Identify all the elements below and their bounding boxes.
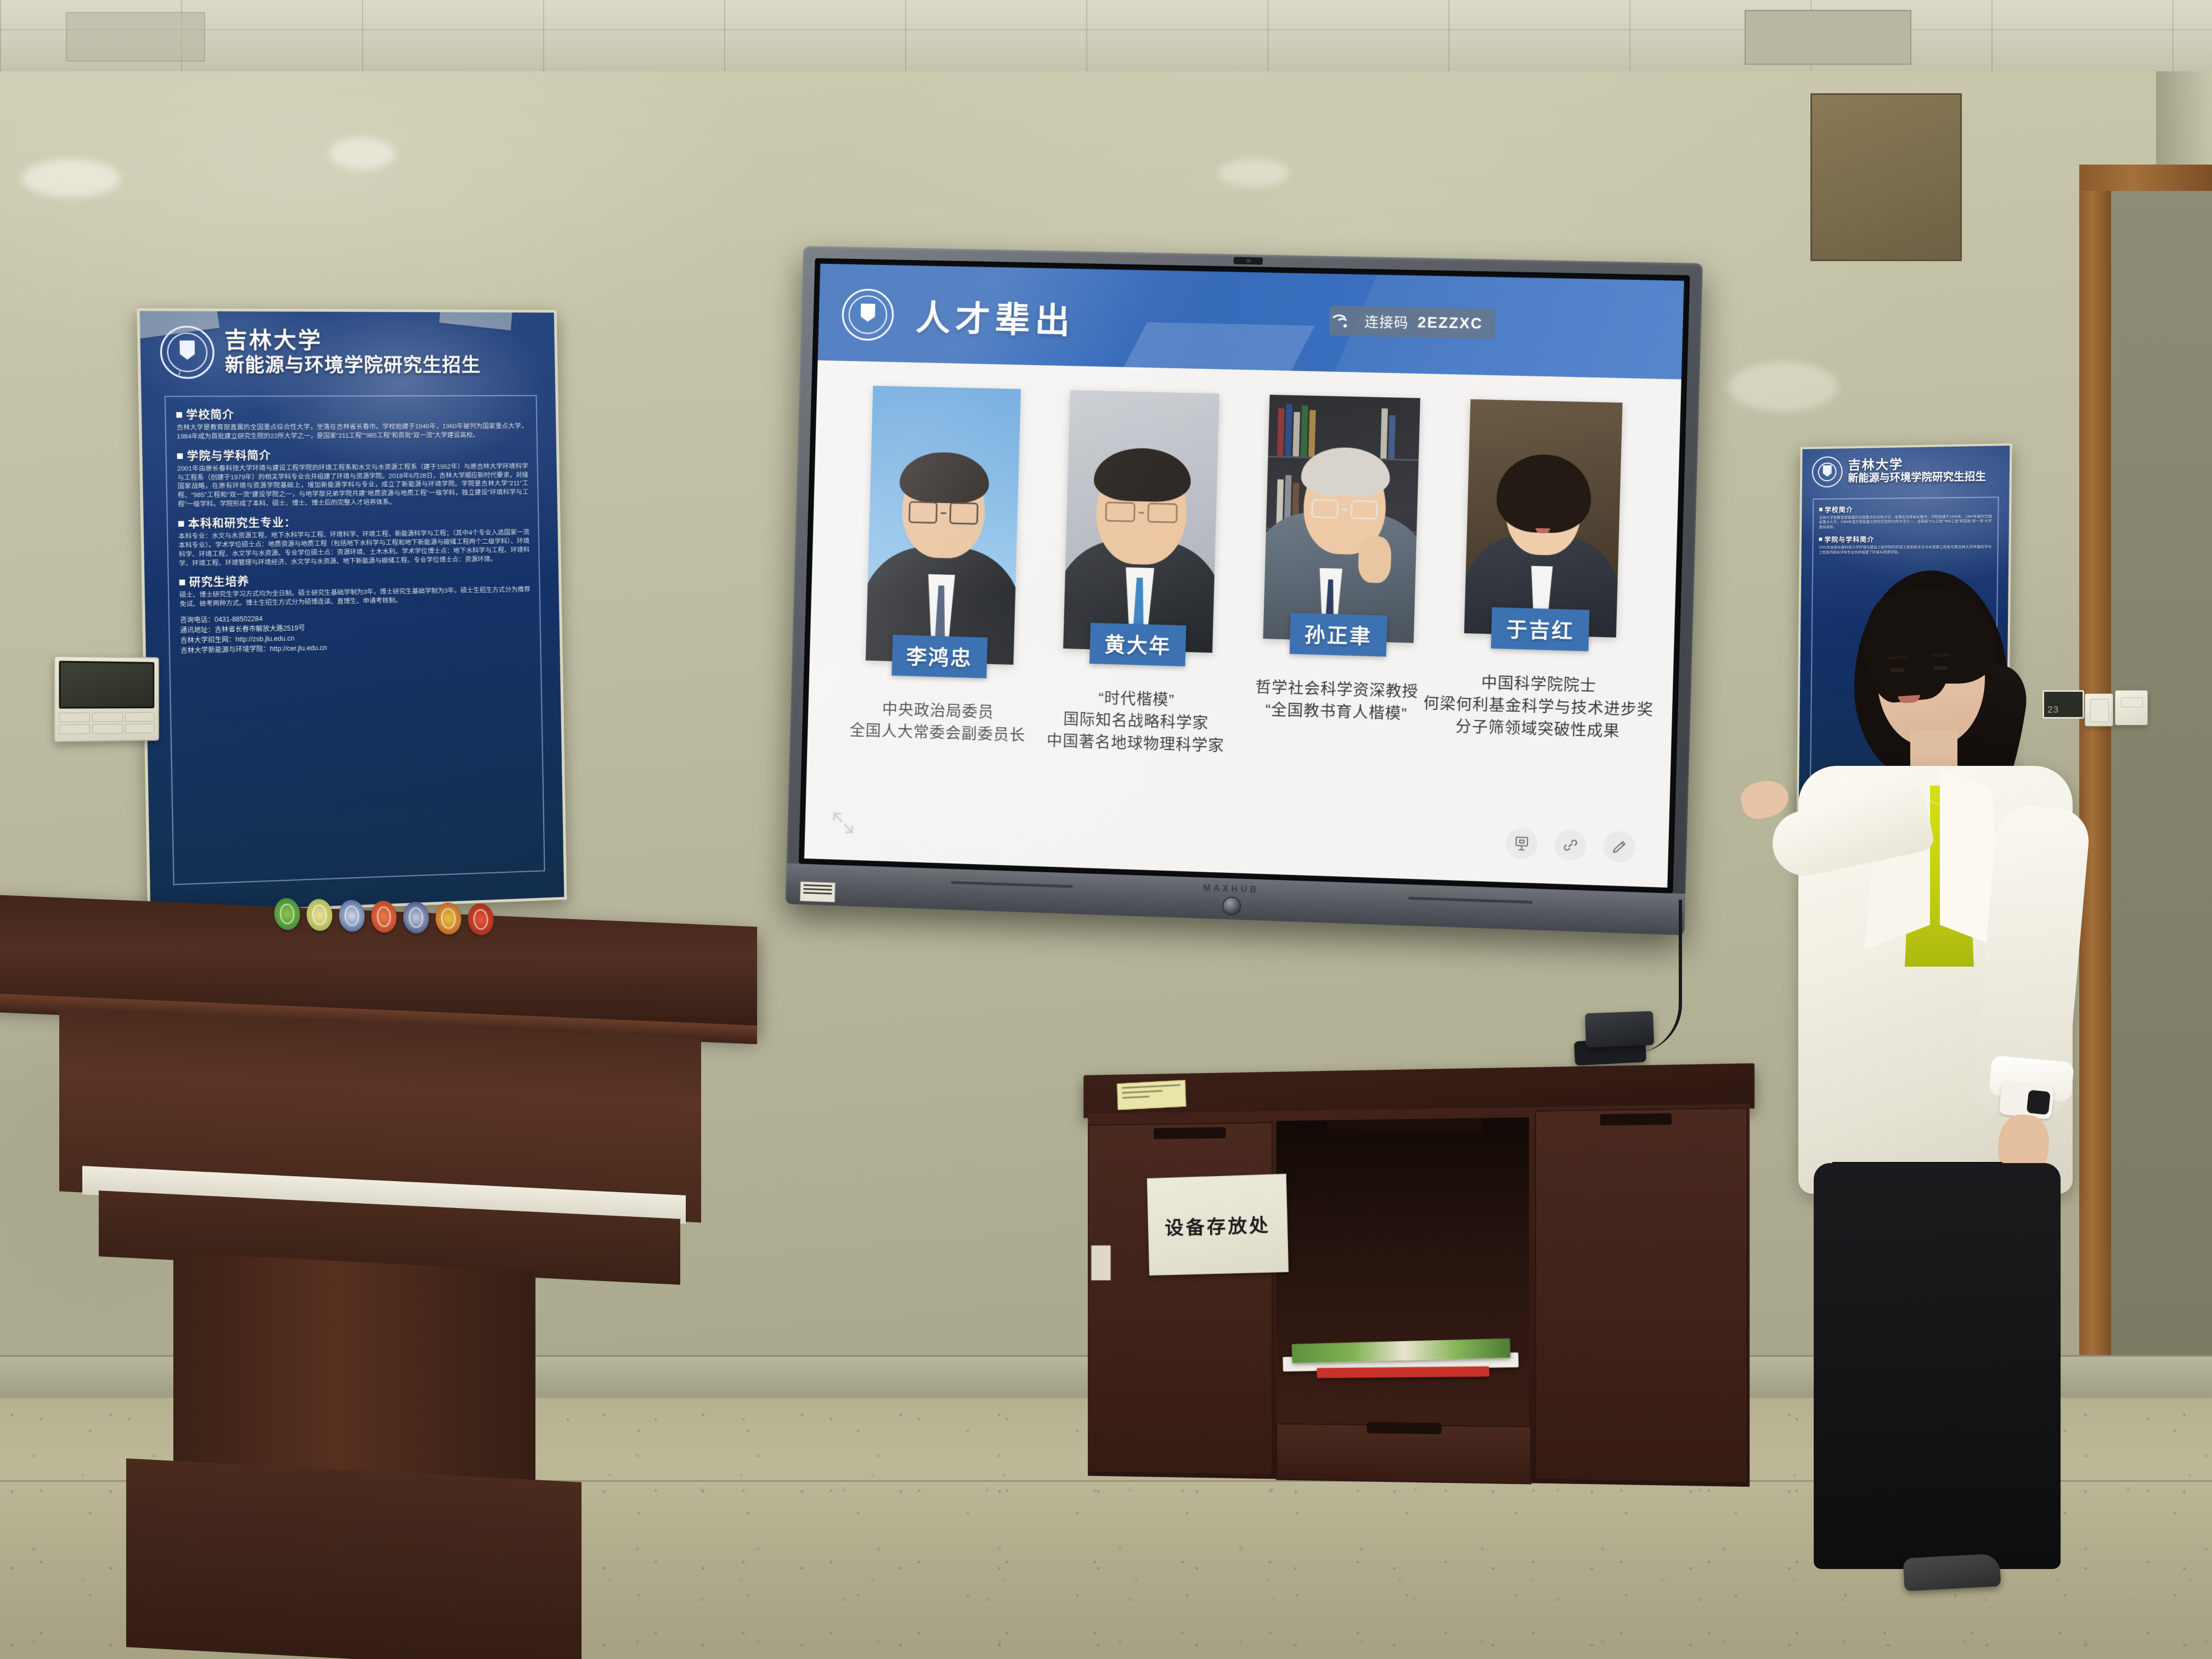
- control-panel-key[interactable]: [92, 712, 122, 722]
- person-description: 哲学社会科学资深教授 “全国教书育人楷模”: [1255, 676, 1419, 725]
- poster-section-body: 本科专业：水文与水资源工程、地下水科学与工程、环境科学、环境工程、新能源科学与工…: [178, 529, 530, 569]
- cabinet-right-door[interactable]: [1535, 1108, 1748, 1483]
- emblem-sticker: [306, 899, 332, 931]
- slide-toolbar[interactable]: [1505, 827, 1636, 863]
- control-panel-lcd: [59, 661, 155, 708]
- control-panel-key[interactable]: [92, 724, 122, 734]
- poster-contact-block: 咨询电话：0431-88502284 通讯地址：吉林省长春市解放大路2519号 …: [180, 609, 532, 656]
- display-brand-logo: MAXHUB: [1203, 884, 1260, 896]
- wifi-connection-badge[interactable]: 连接码 2EZZXC: [1329, 306, 1496, 339]
- cabinet-handle[interactable]: [1600, 1113, 1672, 1126]
- ceiling-vent: [1745, 10, 1911, 65]
- ceiling: [0, 0, 2212, 82]
- control-panel-key[interactable]: [59, 713, 91, 723]
- photo-glasses: [1311, 499, 1378, 520]
- emblem-sticker: [274, 898, 300, 930]
- presenter-shoe: [1903, 1553, 2001, 1591]
- poster-section-heading: 本科和研究生专业：: [178, 511, 529, 532]
- poster-section: 学校简介 吉林大学是教育部直属的全国重点综合性大学，坐落在吉林省长春市。学校始建…: [1819, 504, 1992, 530]
- pen-icon[interactable]: [1603, 831, 1636, 863]
- shelf-book: [1317, 1366, 1489, 1378]
- expand-icon[interactable]: [829, 809, 857, 837]
- poster-subtitle: 新能源与环境学院研究生招生: [225, 354, 481, 377]
- poster-section-heading: 学院与学科简介: [1819, 534, 1991, 545]
- cabinet-sign-text: 设备存放处: [1164, 1210, 1271, 1240]
- poster-section: 学院与学科简介 2001年由原长春科技大学环境与建设工程学院的环境工程系和水文与…: [177, 445, 529, 510]
- power-button[interactable]: [1222, 896, 1242, 916]
- emblem-sticker: [467, 903, 494, 935]
- wifi-connection-code: 2EZZXC: [1417, 314, 1483, 332]
- person-description-line: “全国教书育人楷模”: [1255, 698, 1418, 725]
- slide-header: 人才辈出 连接码 2EZZXC: [818, 264, 1684, 380]
- wall-control-panel[interactable]: [54, 656, 159, 742]
- speaker-vent: [951, 881, 1073, 888]
- wall-scuff: [329, 137, 395, 170]
- control-panel-keypad[interactable]: [59, 712, 155, 734]
- lectern-emblem-stickers: [274, 898, 494, 946]
- person-photo: [1063, 390, 1220, 653]
- person-card: 李鸿忠 中央政治局委员 全国人大常委会副委员长: [846, 385, 1039, 746]
- lectern: [0, 911, 768, 1659]
- wall-scuff: [1218, 159, 1289, 187]
- presenter-eye: [1933, 666, 1948, 670]
- cabinet-drawer-handle[interactable]: [1367, 1422, 1442, 1434]
- person-card: 黄大年 “时代楷模” 国际知名战略科学家 中国著名地球物理科学家: [1043, 390, 1237, 757]
- cabinet-side-label: [1091, 1245, 1111, 1280]
- poster-header: 吉林大学 新能源与环境学院研究生招生: [160, 326, 544, 379]
- poster-section-body: 吉林大学是教育部直属的全国重点综合性大学，坐落在吉林省长春市。学校始建于1946…: [1819, 515, 1992, 530]
- ceiling-vent: [66, 12, 205, 61]
- slide-title: 人才辈出: [915, 290, 1076, 343]
- poster-section: 本科和研究生专业： 本科专业：水文与水资源工程、地下水科学与工程、环境科学、环境…: [178, 511, 530, 569]
- wifi-label: 连接码: [1364, 311, 1409, 332]
- poster-section-body: 吉林大学是教育部直属的全国重点综合性大学，坐落在吉林省长春市。学校始建于1946…: [177, 422, 528, 442]
- cabinet-body: [1088, 1104, 1750, 1487]
- person-description: 中国科学院院士 何梁何利基金科学与技术进步奖 分子筛领域突破性成果: [1423, 670, 1655, 743]
- university-seal-icon: [842, 289, 895, 341]
- slide-body: 李鸿忠 中央政治局委员 全国人大常委会副委员长: [804, 360, 1681, 888]
- presenter-trousers: [1814, 1163, 2061, 1569]
- control-panel-key[interactable]: [59, 724, 91, 734]
- person-description: “时代楷模” 国际知名战略科学家 中国著名地球物理科学家: [1046, 686, 1226, 757]
- cabinet-handle[interactable]: [1154, 1127, 1226, 1139]
- wireless-microphone-box[interactable]: [1585, 1011, 1654, 1047]
- poster-university-name: 吉林大学: [224, 328, 481, 354]
- maxhub-interactive-display[interactable]: 人才辈出 连接码 2EZZXC: [786, 246, 1703, 935]
- display-camera: [1233, 257, 1262, 264]
- presenter: [1717, 549, 2134, 1591]
- person-card: 孙正聿 哲学社会科学资深教授 “全国教书育人楷模”: [1243, 394, 1438, 726]
- control-panel-key[interactable]: [125, 724, 154, 733]
- emblem-sticker: [403, 901, 430, 934]
- poster-header: 吉林大学 新能源与环境学院研究生招生: [1812, 454, 1999, 488]
- equipment-cabinet[interactable]: 设备存放处: [1084, 1063, 1754, 1504]
- link-icon[interactable]: [1554, 829, 1587, 861]
- photo-glasses: [909, 501, 979, 524]
- wall-scuff: [1728, 362, 1838, 411]
- photo-glasses: [1105, 501, 1178, 523]
- cabinet-handle[interactable]: [1327, 1118, 1482, 1135]
- emblem-sticker: [436, 902, 462, 935]
- poster-section-body: 2001年由原长春科技大学环境与建设工程学院的环境工程系和水文与水资源工程系（建…: [177, 462, 529, 510]
- poster-section-heading: 学校简介: [176, 405, 527, 422]
- poster-section-heading: 学院与学科简介: [177, 445, 528, 464]
- poster-university-name: 吉林大学: [1848, 456, 1986, 473]
- door-frame-top: [2079, 165, 2212, 191]
- classroom-scene: 吉林大学 新能源与环境学院研究生招生 学校简介 吉林大学是教育部直属的全国重点综…: [0, 0, 2212, 1659]
- wall-scuff: [22, 159, 121, 198]
- display-panel: 人才辈出 连接码 2EZZXC: [799, 258, 1690, 894]
- person-photo: [866, 386, 1021, 665]
- cabinet-open-shelf: [1276, 1118, 1529, 1436]
- cabinet-asset-sticker: [1117, 1080, 1186, 1110]
- display-screen[interactable]: 人才辈出 连接码 2EZZXC: [804, 264, 1684, 888]
- poster-subtitle: 新能源与环境学院研究生招生: [1848, 471, 1986, 485]
- person-name: 黄大年: [1090, 623, 1187, 667]
- wifi-icon: [1339, 314, 1356, 328]
- lectern-base: [126, 1458, 582, 1659]
- recruitment-poster-left: 吉林大学 新能源与环境学院研究生招生 学校简介 吉林大学是教育部直属的全国重点综…: [137, 308, 567, 916]
- presentation-slide: 人才辈出 连接码 2EZZXC: [804, 264, 1684, 888]
- person-photo: [1464, 399, 1623, 637]
- presenter-eye: [1891, 668, 1905, 672]
- control-panel-key[interactable]: [125, 712, 154, 721]
- person-card: 于吉红 中国科学院院士 何梁何利基金科学与技术进步奖 分子筛领域突破性成果: [1443, 399, 1641, 743]
- presenter-smartwatch: [1999, 1081, 2055, 1120]
- poster-section: 研究生培养 硕士、博士研究生学习方式均为全日制。硕士研究生基础学制为3年，博士研…: [179, 568, 531, 610]
- poster-section-heading: 学校简介: [1819, 504, 1992, 515]
- person-description-line: 全国人大常委会副委员长: [849, 719, 1026, 747]
- poster-section-body: 硕士、博士研究生学习方式均为全日制。硕士研究生基础学制为3年，博士研究生基础学制…: [179, 586, 531, 610]
- poster-content: 学校简介 吉林大学是教育部直属的全国重点综合性大学，坐落在吉林省长春市。学校始建…: [165, 395, 545, 885]
- emblem-sticker: [371, 900, 397, 933]
- people-row: 李鸿忠 中央政治局委员 全国人大常委会副委员长: [846, 385, 1641, 769]
- cabinet-sign: 设备存放处: [1147, 1174, 1289, 1276]
- poster-section: 学校简介 吉林大学是教育部直属的全国重点综合性大学，坐落在吉林省长春市。学校始建…: [176, 405, 528, 442]
- speaker-vent: [1408, 896, 1533, 904]
- photo-hand: [1358, 536, 1392, 584]
- emblem-sticker: [338, 900, 365, 932]
- slideshow-icon[interactable]: [1505, 827, 1538, 860]
- university-seal-icon: [1812, 456, 1843, 488]
- display-spec-label: [800, 882, 836, 902]
- person-photo: [1263, 394, 1420, 642]
- person-name: 于吉红: [1491, 607, 1590, 651]
- person-name: 孙正聿: [1289, 613, 1387, 657]
- door-wall-panel: [1810, 93, 1962, 261]
- person-name: 李鸿忠: [891, 635, 988, 678]
- person-description: 中央政治局委员 全国人大常委会副委员长: [849, 697, 1026, 746]
- presenter-pointing-hand: [1737, 776, 1792, 823]
